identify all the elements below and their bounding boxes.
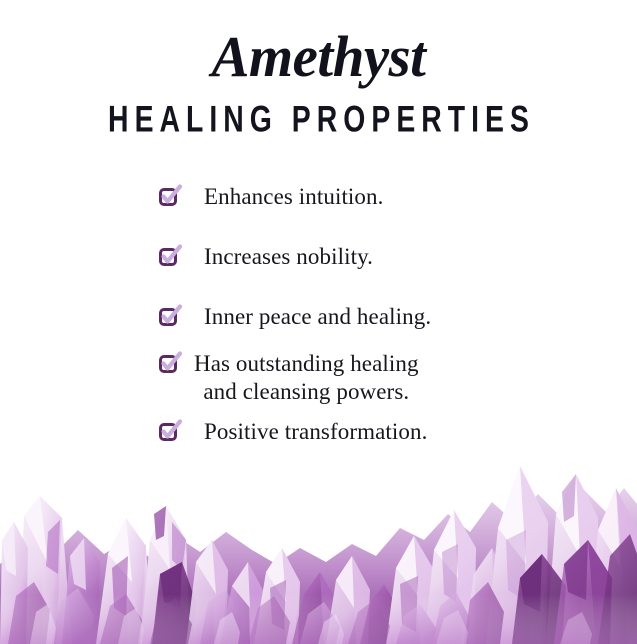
page-title: Amethyst: [6, 28, 630, 86]
checkbox-checked-icon: [158, 246, 182, 270]
list-item-label: Inner peace and healing.: [204, 303, 431, 330]
amethyst-crystal-cluster-image: [0, 444, 637, 644]
list-item: Increases nobility.: [158, 243, 578, 270]
list-item-label: Increases nobility.: [204, 243, 373, 270]
list-item: Has outstanding healing and cleansing po…: [158, 350, 578, 404]
amethyst-healing-properties-poster: Amethyst HEALING PROPERTIES Enhances int…: [0, 0, 637, 644]
page-subtitle: HEALING PROPERTIES: [45, 100, 593, 137]
list-item-label: Has outstanding healing and cleansing po…: [194, 350, 419, 404]
checkbox-checked-icon: [158, 186, 182, 210]
list-item: Positive transformation.: [158, 418, 578, 445]
checkbox-checked-icon: [158, 421, 182, 445]
checkbox-checked-icon: [158, 353, 182, 377]
list-item-label: Enhances intuition.: [204, 183, 383, 210]
list-item-label: Positive transformation.: [204, 418, 427, 445]
list-item: Enhances intuition.: [158, 183, 578, 210]
poster-header: Amethyst HEALING PROPERTIES: [0, 28, 637, 135]
checkbox-checked-icon: [158, 306, 182, 330]
healing-properties-list: Enhances intuition. Increases nobility. …: [158, 183, 578, 478]
list-item: Inner peace and healing.: [158, 303, 578, 330]
